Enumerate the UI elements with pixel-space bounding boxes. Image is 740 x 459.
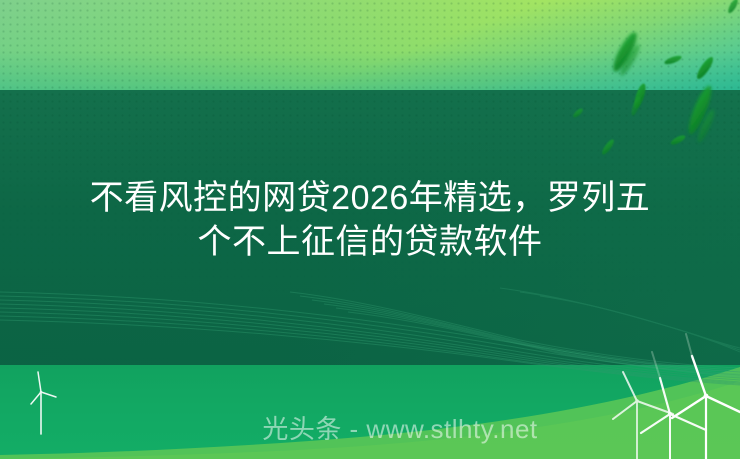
banner-title: 不看风控的网贷2026年精选，罗列五 个不上征信的贷款软件 — [0, 176, 740, 264]
title-line-1: 不看风控的网贷2026年精选，罗列五 — [24, 176, 716, 220]
title-line-2: 个不上征信的贷款软件 — [24, 220, 716, 264]
watermark-text: 光头条 - www.stlhty.net — [0, 413, 740, 445]
promotional-banner: 不看风控的网贷2026年精选，罗列五 个不上征信的贷款软件 光头条 - www.… — [0, 0, 740, 459]
